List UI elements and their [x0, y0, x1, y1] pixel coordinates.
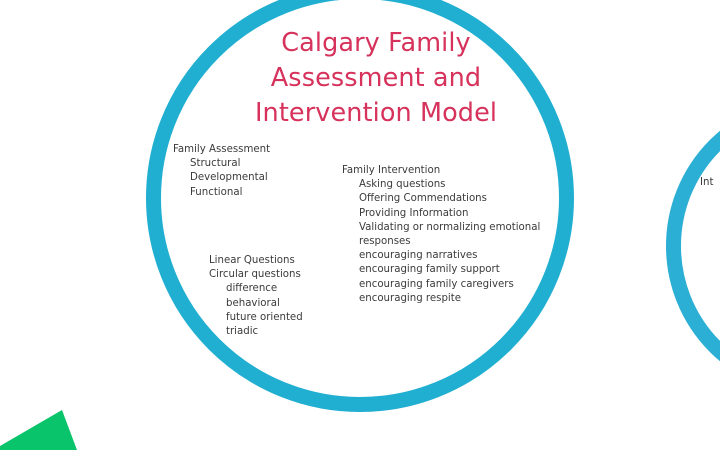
- family-assessment-heading: Family Assessment: [173, 143, 270, 157]
- page-title: Calgary Family Assessment and Interventi…: [226, 26, 526, 131]
- offscreen-circle-label: Int: [700, 176, 720, 190]
- list-item: future oriented: [226, 311, 303, 325]
- family-intervention-block: Family Intervention Asking questions Off…: [342, 164, 564, 306]
- list-item: Asking questions: [359, 178, 564, 192]
- family-intervention-heading: Family Intervention: [342, 164, 564, 178]
- family-assessment-block: Family Assessment Structural Development…: [173, 143, 270, 200]
- circular-questions-heading: Circular questions: [209, 268, 303, 282]
- list-item: Offering Commendations: [359, 192, 564, 206]
- list-item: encouraging narratives: [359, 249, 564, 263]
- green-triangle-shape: [0, 406, 92, 450]
- list-item: Validating or normalizing emotional resp…: [359, 221, 564, 249]
- list-item: encouraging family support: [359, 263, 564, 277]
- list-item: Structural: [190, 157, 270, 171]
- list-item: Functional: [190, 186, 270, 200]
- list-item: behavioral: [226, 297, 303, 311]
- list-item: Providing Information: [359, 207, 564, 221]
- list-item: Developmental: [190, 171, 270, 185]
- secondary-circle-outline: [666, 96, 720, 396]
- list-item: encouraging respite: [359, 292, 564, 306]
- questions-block: Linear Questions Circular questions diff…: [209, 254, 303, 339]
- slide-canvas: Calgary Family Assessment and Interventi…: [0, 0, 720, 450]
- list-item: triadic: [226, 325, 303, 339]
- list-item: encouraging family caregivers: [359, 278, 564, 292]
- linear-questions-heading: Linear Questions: [209, 254, 303, 268]
- list-item: difference: [226, 282, 303, 296]
